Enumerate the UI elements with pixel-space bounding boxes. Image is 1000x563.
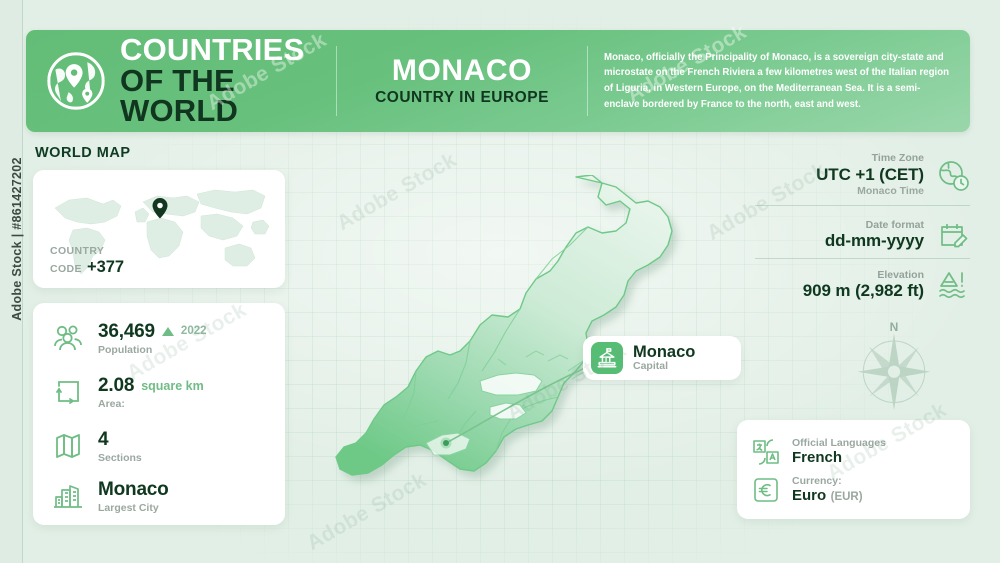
country-code-value: +377 bbox=[87, 258, 124, 276]
government-building-icon bbox=[596, 347, 618, 369]
info-row-timezone: Time Zone UTC +1 (CET) Monaco Time bbox=[816, 152, 970, 198]
language-label: Official Languages bbox=[792, 437, 886, 449]
language-value: French bbox=[792, 449, 886, 467]
language-currency-card: Official Languages French Currency: Euro… bbox=[737, 420, 970, 519]
info-value: UTC +1 (CET) bbox=[816, 165, 924, 185]
currency-row: Currency: Euro (EUR) bbox=[751, 475, 863, 505]
sidebar-watermark: Adobe Stock | #861427202 bbox=[10, 114, 24, 364]
people-icon bbox=[51, 321, 85, 355]
globe-clock-icon bbox=[936, 158, 970, 192]
statistics-card: 36,469 2022 Population 2.08 square km Ar… bbox=[33, 303, 285, 525]
euro-icon bbox=[751, 475, 781, 505]
area-square-icon bbox=[51, 375, 85, 409]
currency-value: Euro bbox=[792, 487, 826, 504]
currency-code: (EUR) bbox=[831, 491, 863, 503]
world-map-title: WORLD MAP bbox=[35, 145, 131, 161]
stat-label: Largest City bbox=[98, 502, 169, 514]
stat-label: Population bbox=[98, 344, 207, 356]
country-description-block: Monaco, officially the Principality of M… bbox=[588, 30, 970, 132]
stat-unit: square km bbox=[141, 379, 204, 393]
globe-pin-icon bbox=[46, 51, 106, 111]
info-row-dateformat: Date format dd-mm-yyyy bbox=[825, 218, 970, 252]
country-title-block: MONACO COUNTRY IN EUROPE bbox=[337, 30, 587, 132]
language-row: Official Languages French bbox=[751, 437, 886, 467]
capital-name: Monaco bbox=[633, 343, 695, 361]
folded-map-icon bbox=[51, 429, 85, 463]
stat-value: 36,469 bbox=[98, 321, 155, 343]
info-value: 909 m (2,982 ft) bbox=[803, 281, 924, 301]
currency-label: Currency: bbox=[792, 475, 863, 487]
stat-value: 2.08 bbox=[98, 375, 134, 397]
country-description: Monaco, officially the Principality of M… bbox=[604, 50, 952, 113]
stat-value: 4 bbox=[98, 429, 108, 451]
capital-icon-badge bbox=[591, 342, 623, 374]
country-code-block: COUNTRY CODE +377 bbox=[50, 246, 124, 276]
info-divider-1 bbox=[755, 205, 970, 206]
translate-icon bbox=[751, 437, 781, 467]
brand-line-1: COUNTRIES bbox=[120, 35, 336, 65]
capital-callout-card: Monaco Capital bbox=[583, 336, 741, 380]
country-subtitle: COUNTRY IN EUROPE bbox=[375, 89, 549, 107]
stat-label: Area: bbox=[98, 398, 204, 410]
capital-label: Capital bbox=[633, 361, 695, 373]
brand-block: COUNTRIES OF THE WORLD bbox=[26, 30, 336, 132]
country-name: MONACO bbox=[392, 55, 532, 87]
info-label: Elevation bbox=[803, 269, 924, 282]
country-code-label-2: CODE bbox=[50, 264, 82, 276]
info-label: Date format bbox=[825, 219, 924, 232]
info-label: Time Zone bbox=[816, 152, 924, 165]
calendar-edit-icon bbox=[936, 218, 970, 252]
stat-year: 2022 bbox=[181, 325, 207, 338]
elevation-icon bbox=[936, 268, 970, 302]
triangle-up-icon bbox=[162, 327, 174, 336]
stat-label: Sections bbox=[98, 452, 142, 464]
info-row-elevation: Elevation 909 m (2,982 ft) bbox=[803, 268, 970, 302]
stat-row-area: 2.08 square km Area: bbox=[51, 375, 204, 410]
stat-row-sections: 4 Sections bbox=[51, 429, 142, 464]
compass-north-label: N bbox=[846, 320, 942, 334]
country-code-label-1: COUNTRY bbox=[50, 246, 124, 258]
brand-line-2: OF THE WORLD bbox=[120, 66, 336, 127]
stat-row-largest-city: Monaco Largest City bbox=[51, 479, 169, 514]
info-sub: Monaco Time bbox=[816, 185, 924, 198]
infographic-canvas: N COUNTRIES OF THE WORLD MONACO COUN bbox=[0, 0, 1000, 563]
stat-row-population: 36,469 2022 Population bbox=[51, 321, 207, 356]
world-map-card: COUNTRY CODE +377 bbox=[33, 170, 285, 288]
stat-value: Monaco bbox=[98, 479, 169, 501]
header-banner: COUNTRIES OF THE WORLD MONACO COUNTRY IN… bbox=[26, 30, 970, 132]
info-value: dd-mm-yyyy bbox=[825, 231, 924, 251]
info-divider-2 bbox=[755, 258, 970, 259]
city-buildings-icon bbox=[51, 479, 85, 513]
